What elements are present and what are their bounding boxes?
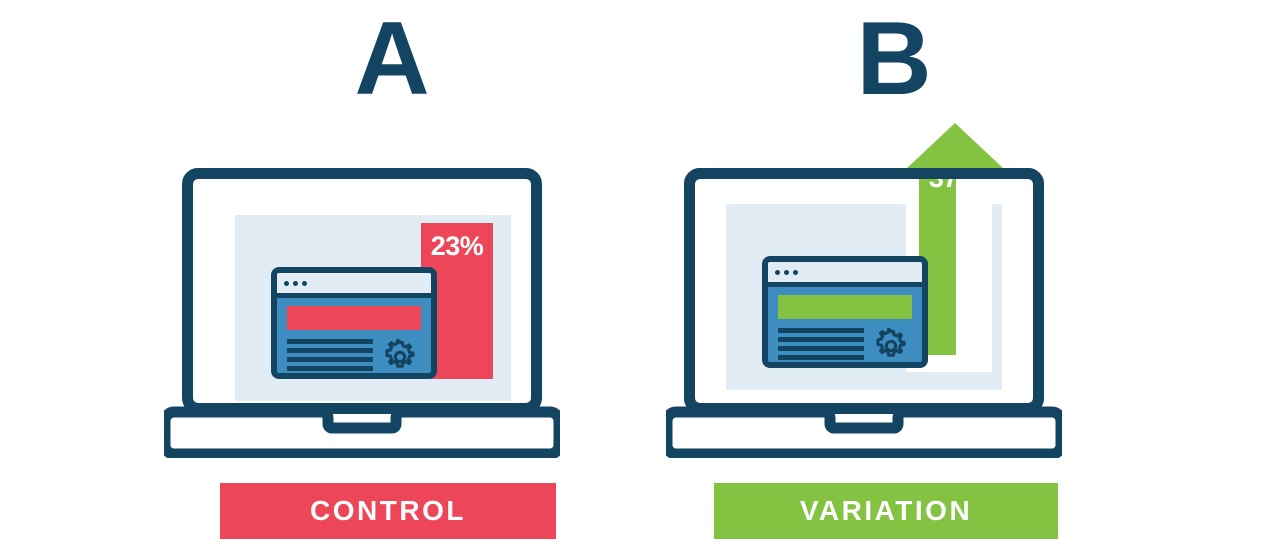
- text-line: [287, 357, 373, 362]
- variant-b-letter: B: [636, 4, 1152, 114]
- browser-dot-icon: [284, 281, 289, 286]
- laptop-b-base: [666, 406, 1062, 458]
- browser-a-titlebar: [277, 273, 431, 298]
- variant-a-label-bar: CONTROL: [220, 483, 556, 539]
- variant-b-label-bar: VARIATION: [714, 483, 1058, 539]
- laptop-a-lid: 23%: [182, 168, 542, 414]
- text-line: [287, 375, 373, 379]
- browser-a-hero-banner: [287, 306, 421, 330]
- variant-b-label-text: VARIATION: [800, 495, 972, 527]
- variant-a-column: A 23%: [134, 0, 650, 553]
- gear-icon: [382, 339, 418, 379]
- ab-test-illustration: A 23%: [0, 0, 1288, 553]
- laptop-a-screen: 23%: [235, 215, 511, 401]
- browser-dot-icon: [293, 281, 298, 286]
- text-line: [287, 339, 373, 344]
- metric-value-a: 23%: [421, 231, 493, 262]
- browser-a-body: [277, 298, 431, 379]
- variant-a-letter: A: [134, 4, 650, 114]
- variant-a-label-text: CONTROL: [310, 495, 466, 527]
- text-line: [287, 348, 373, 353]
- browser-a-content-row: [287, 339, 421, 379]
- browser-dot-icon: [302, 281, 307, 286]
- laptop-a-base: [164, 406, 560, 458]
- browser-a-text-lines: [287, 339, 373, 379]
- variant-b-column: B 37%: [636, 0, 1152, 553]
- browser-window-a: [271, 267, 437, 379]
- laptop-b-lid-border: [684, 168, 1044, 414]
- text-line: [287, 366, 373, 371]
